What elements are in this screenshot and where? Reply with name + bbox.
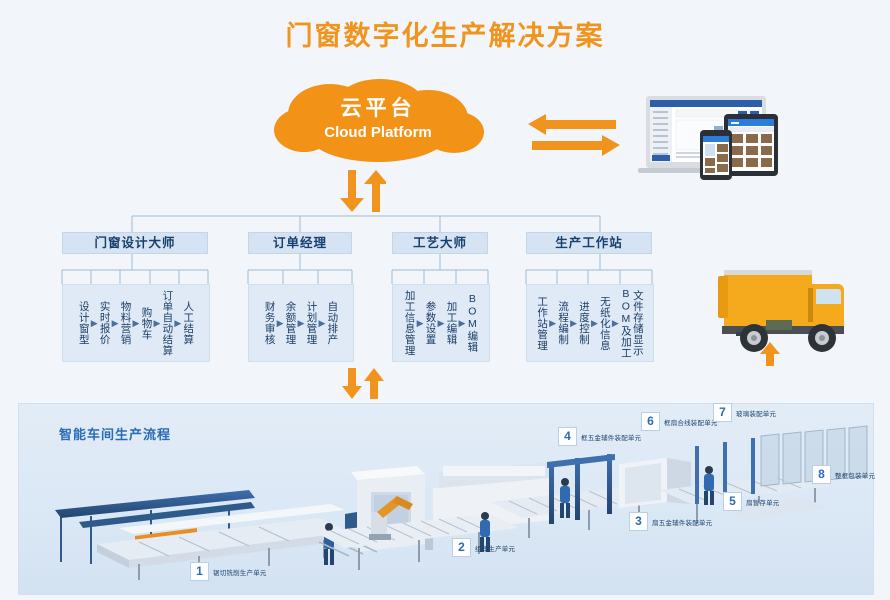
callout-label: 玻璃装配单元: [736, 408, 776, 418]
module-item[interactable]: BOM编辑: [466, 293, 478, 353]
module-item[interactable]: 加工编辑: [445, 301, 457, 345]
callout-number: 4: [558, 427, 577, 446]
arrow-right-icon: ▶: [132, 318, 141, 329]
factory-callout-6[interactable]: 6 框扇合线装配单元: [641, 412, 718, 431]
callout-label: 锯切铣削生产单元: [213, 567, 267, 577]
factory-callout-4[interactable]: 4 框五金辅件装配单元: [558, 427, 641, 446]
delivery-truck: [712, 258, 872, 368]
module-title-0: 门窗设计大师: [62, 232, 208, 254]
module-title-2: 工艺大师: [392, 232, 488, 254]
module-item[interactable]: 文件存储显示: [632, 288, 644, 359]
modules-factory-arrows: [340, 368, 386, 400]
module-item[interactable]: 加工信息管理: [404, 290, 416, 356]
arrow-right-icon: ▶: [173, 318, 182, 329]
arrow-right-icon: ▶: [611, 318, 620, 329]
module-item-group: 文件存储显示 BOM及加工: [620, 288, 644, 359]
arrow-right-icon: ▶: [590, 318, 599, 329]
arrow-right-icon: ▶: [90, 318, 99, 329]
cloud-modules-arrows: [340, 170, 386, 214]
callout-label: 组角生产单元: [475, 543, 515, 553]
cloud-icon: [268, 78, 488, 166]
module-item[interactable]: 自动排产: [326, 301, 338, 345]
callout-label: 扇暂存单元: [746, 497, 780, 507]
page-title: 门窗数字化生产解决方案: [0, 14, 890, 53]
cloud-devices-arrows: [528, 112, 620, 156]
module-item[interactable]: 设计窗型: [78, 301, 90, 345]
factory-callout-7[interactable]: 7 玻璃装配单元: [713, 403, 776, 422]
arrow-right-icon: ▶: [569, 318, 578, 329]
module-items-3: 工作站管理 ▶ 流程编制 ▶ 进度控制 ▶ 无纸化信息 ▶ 文件存储显示 BOM…: [526, 284, 654, 362]
arrow-right-icon: ▶: [297, 318, 306, 329]
truck-icon: [712, 258, 872, 368]
module-items-2: 加工信息管理 ▶ 参数设置 ▶ 加工编辑 ▶ BOM编辑: [392, 284, 490, 362]
arrow-right-icon: ▶: [111, 318, 120, 329]
module-items-1: 财务审核 ▶ 余额管理 ▶ 计划管理 ▶ 自动排产: [248, 284, 354, 362]
factory-callout-2[interactable]: 2 组角生产单元: [452, 538, 515, 557]
callout-label: 框五金辅件装配单元: [581, 432, 641, 442]
module-title-3: 生产工作站: [526, 232, 652, 254]
module-item[interactable]: 财务审核: [264, 301, 276, 345]
callout-label: 整框包装单元: [835, 470, 875, 480]
module-item[interactable]: 实时报价: [99, 301, 111, 345]
callout-number: 6: [641, 412, 660, 431]
arrow-right-icon: ▶: [548, 318, 557, 329]
arrow-right-icon: ▶: [416, 318, 425, 329]
module-item[interactable]: BOM及加工: [620, 288, 632, 359]
callout-number: 1: [190, 562, 209, 581]
module-item[interactable]: 无纸化信息: [599, 296, 611, 351]
factory-callout-3[interactable]: 3 扇五金辅件装配单元: [629, 512, 712, 531]
callout-number: 5: [723, 492, 742, 511]
arrow-right-icon: ▶: [276, 318, 285, 329]
module-item[interactable]: 购物车: [140, 307, 152, 340]
callout-number: 7: [713, 403, 732, 422]
module-card-1[interactable]: 订单经理: [248, 232, 352, 254]
module-card-0[interactable]: 门窗设计大师: [62, 232, 208, 254]
callout-label: 扇五金辅件装配单元: [652, 517, 712, 527]
arrow-right-icon: ▶: [152, 318, 161, 329]
callout-number: 3: [629, 512, 648, 531]
module-item[interactable]: 参数设置: [425, 301, 437, 345]
module-card-2[interactable]: 工艺大师: [392, 232, 488, 254]
module-item[interactable]: 进度控制: [578, 301, 590, 345]
module-items-0: 设计窗型 ▶ 实时报价 ▶ 物料营销 ▶ 购物车 ▶ 订单自动结算 ▶ 人工结算: [62, 284, 210, 362]
factory-callout-1[interactable]: 1 锯切铣削生产单元: [190, 562, 267, 581]
arrow-right-icon: ▶: [457, 318, 466, 329]
cloud-platform-node[interactable]: 云平台 Cloud Platform: [268, 78, 488, 166]
module-item[interactable]: 余额管理: [285, 301, 297, 345]
module-item[interactable]: 流程编制: [557, 301, 569, 345]
module-item[interactable]: 物料营销: [120, 301, 132, 345]
devices-mockup[interactable]: [628, 88, 800, 180]
callout-number: 8: [812, 465, 831, 484]
callout-number: 2: [452, 538, 471, 557]
arrow-right-icon: ▶: [437, 318, 446, 329]
module-title-1: 订单经理: [248, 232, 352, 254]
module-item[interactable]: 人工结算: [182, 301, 194, 345]
module-item[interactable]: 订单自动结算: [161, 290, 173, 356]
devices-icon: [628, 88, 800, 180]
factory-callout-8[interactable]: 8 整框包装单元: [812, 465, 875, 484]
module-item[interactable]: 计划管理: [305, 301, 317, 345]
module-item[interactable]: 工作站管理: [536, 296, 548, 351]
arrow-right-icon: ▶: [317, 318, 326, 329]
factory-callout-5[interactable]: 5 扇暂存单元: [723, 492, 780, 511]
module-card-3[interactable]: 生产工作站: [526, 232, 652, 254]
callout-label: 框扇合线装配单元: [664, 417, 718, 427]
diagram-canvas: 门窗数字化生产解决方案 云平台 Cloud Platform: [0, 0, 890, 600]
